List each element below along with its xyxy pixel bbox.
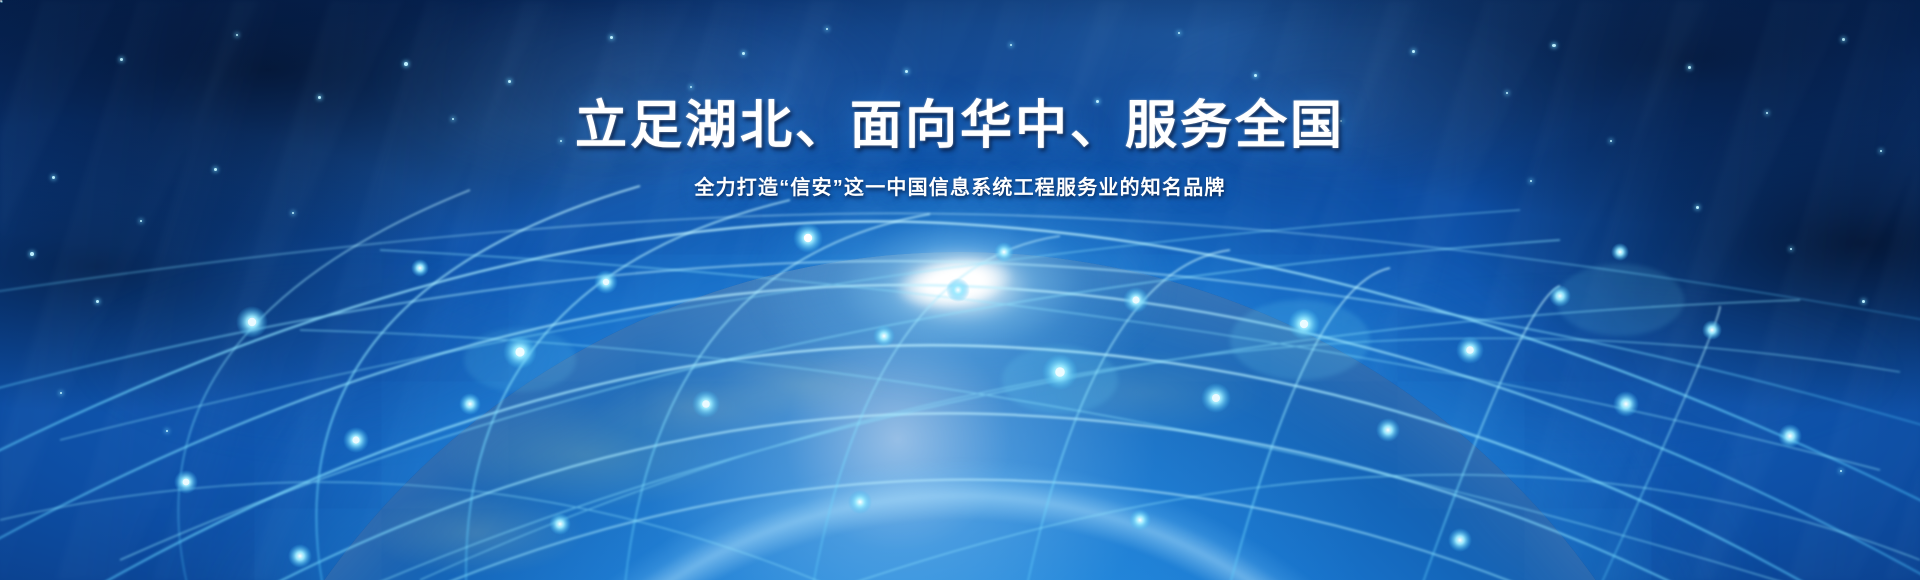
banner-copy: 立足湖北、面向华中、服务全国 全力打造“信安”这一中国信息系统工程服务业的知名品… [0,96,1920,200]
hero-banner: 立足湖北、面向华中、服务全国 全力打造“信安”这一中国信息系统工程服务业的知名品… [0,0,1920,580]
banner-headline: 立足湖北、面向华中、服务全国 [0,96,1920,157]
star-specks-layer [0,0,1920,580]
banner-subheadline: 全力打造“信安”这一中国信息系统工程服务业的知名品牌 [0,171,1920,200]
